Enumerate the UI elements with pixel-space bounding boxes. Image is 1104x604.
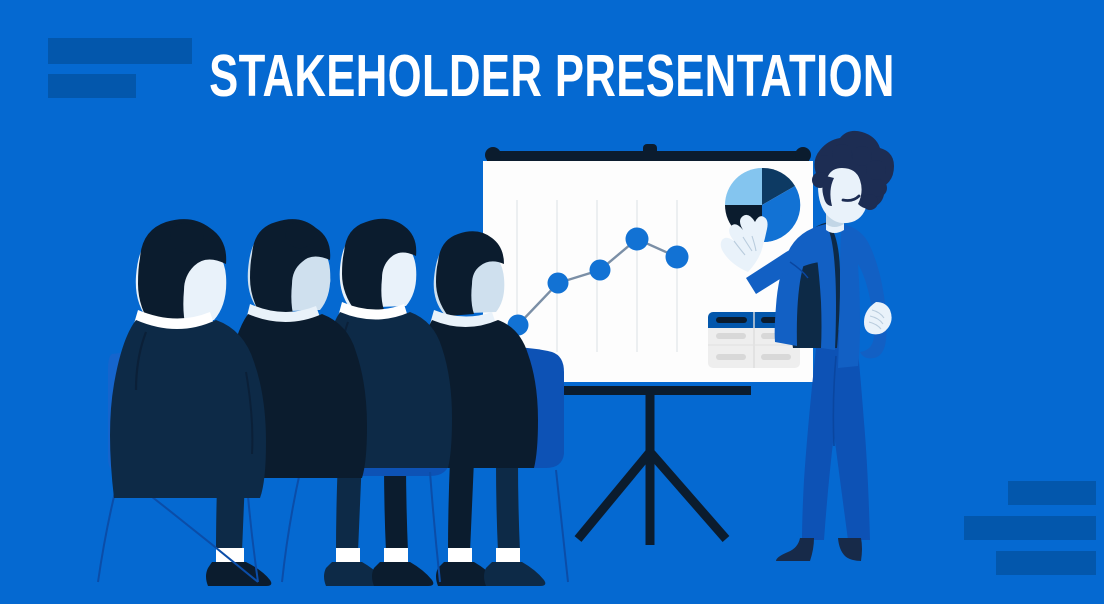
audience-4-leg-2 xyxy=(496,462,520,552)
decor-bar-narrow xyxy=(48,74,136,98)
data-point-5 xyxy=(666,246,689,269)
audience-4-sock xyxy=(448,548,472,564)
data-point-2 xyxy=(548,273,569,294)
data-point-4 xyxy=(626,228,649,251)
table-cell-pill-r2c2 xyxy=(761,354,791,360)
table-cell-pill-r1c1 xyxy=(716,333,746,339)
rail-knob-left xyxy=(485,147,501,163)
decor-bar-wide-2 xyxy=(964,516,1096,540)
whiteboard-bottom-rail xyxy=(549,386,751,395)
audience-3-sock-2 xyxy=(384,548,408,564)
audience-4-sock-2 xyxy=(496,548,520,564)
decor-bar-short xyxy=(1008,481,1096,505)
audience-1-body xyxy=(110,320,266,498)
rail-knob-right xyxy=(795,147,811,163)
table-header-pill-1 xyxy=(716,317,747,323)
slide-illustration xyxy=(0,0,1104,604)
decor-bar-medium xyxy=(996,551,1096,575)
rail-bar xyxy=(487,151,809,162)
data-point-3 xyxy=(590,260,611,281)
decor-bar-wide xyxy=(48,38,192,64)
presentation-slide: STAKEHOLDER PRESENTATION xyxy=(0,0,1104,604)
audience-3-sock xyxy=(336,548,360,564)
audience-4-leg xyxy=(448,460,474,552)
table-cell-pill-r2c1 xyxy=(716,354,746,360)
